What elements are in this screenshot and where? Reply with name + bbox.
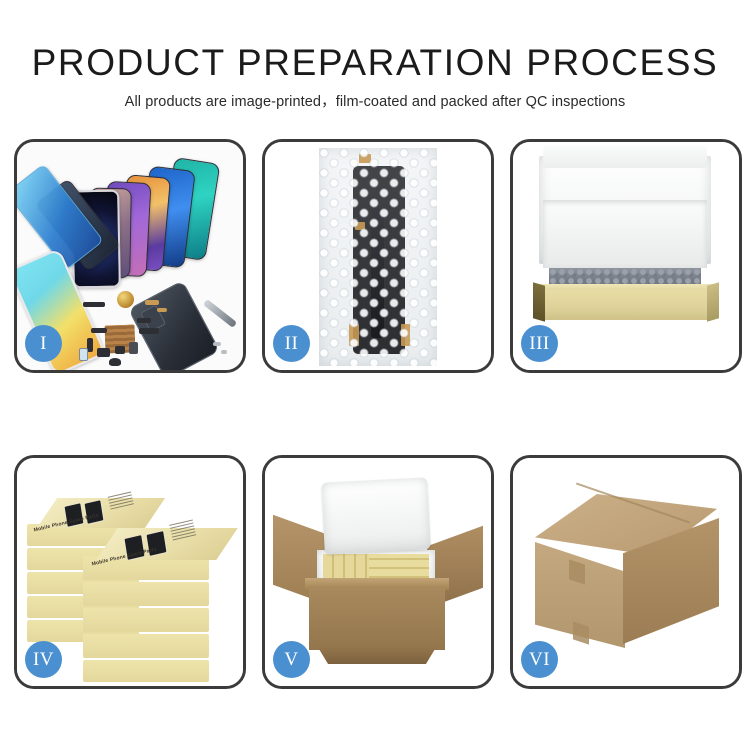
panel-step-5[interactable]: V	[262, 455, 494, 689]
carton-body	[309, 586, 445, 650]
stack-box-front-5	[83, 634, 209, 658]
step-badge-2: II	[273, 325, 310, 362]
part-screw-2	[221, 350, 227, 354]
step-badge-1: I	[25, 325, 62, 362]
part-chip-1	[97, 348, 110, 357]
part-speaker	[109, 358, 121, 366]
stack-box-front-3	[83, 582, 209, 606]
part-connector-1	[139, 328, 159, 334]
product-preparation-infographic: PRODUCT PREPARATION PROCESS All products…	[0, 0, 750, 750]
step-badge-4: IV	[25, 641, 62, 678]
page-subtitle: All products are image-printed，film-coat…	[0, 90, 750, 111]
part-flex-1	[145, 300, 159, 305]
part-strip-2	[91, 328, 107, 333]
bubble-wrap-bag	[319, 148, 437, 366]
panel-step-2[interactable]: II	[262, 139, 494, 373]
step-badge-3: III	[521, 325, 558, 362]
stack-box-front-6	[83, 660, 209, 682]
step-badge-6: VI	[521, 641, 558, 678]
part-flex-2	[157, 308, 167, 312]
panel-step-6[interactable]: VI	[510, 455, 742, 689]
panel-step-1[interactable]: I	[14, 139, 246, 373]
part-screw-1	[213, 342, 221, 346]
box-stack: Mobile Phone Spare Parts Mobile Phone Sp…	[21, 476, 239, 672]
part-strip-1	[83, 302, 105, 307]
part-connector-2	[137, 318, 151, 323]
bubble-texture	[319, 148, 437, 366]
part-chip-2	[115, 346, 125, 354]
part-camera-glass	[79, 348, 88, 361]
panel-step-4[interactable]: Mobile Phone Spare Parts Mobile Phone Sp…	[14, 455, 246, 689]
gold-component-icon	[117, 291, 134, 308]
page-title: PRODUCT PREPARATION PROCESS	[0, 42, 750, 84]
step-badge-5: V	[273, 641, 310, 678]
yellow-box-base	[541, 290, 711, 320]
foam-box-lid	[321, 477, 431, 554]
stack-box-front-4	[83, 608, 209, 632]
part-chip-3	[129, 342, 138, 354]
foam-front-sheet	[543, 200, 707, 268]
panel-step-3[interactable]: III	[510, 139, 742, 373]
